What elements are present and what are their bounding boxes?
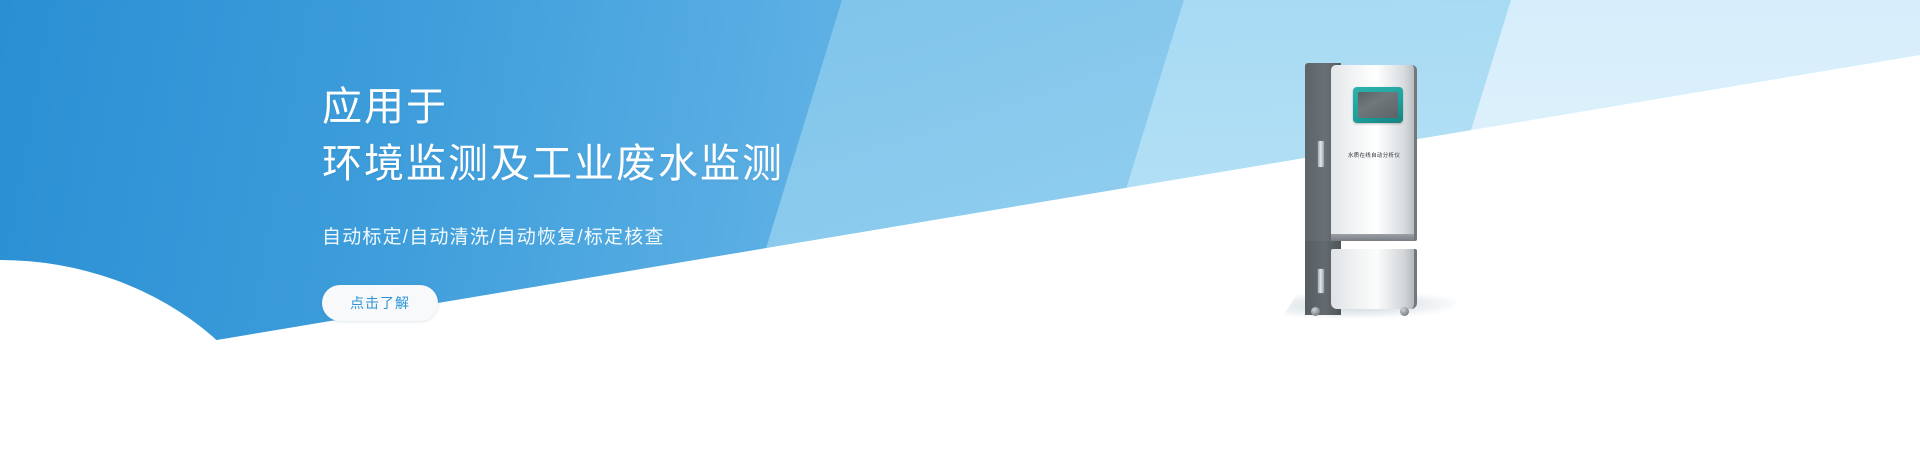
hero-subtitle: 自动标定/自动清洗/自动恢复/标定核查 xyxy=(322,222,942,249)
device-caster-right xyxy=(1400,307,1409,316)
hero-content: 应用于 环境监测及工业废水监测 自动标定/自动清洗/自动恢复/标定核查 点击了解 xyxy=(322,52,942,321)
device-lower-drawer xyxy=(1331,249,1417,309)
device-label-text: 水质在线自动分析仪 xyxy=(1330,151,1418,159)
device-caster-left xyxy=(1311,307,1320,316)
learn-more-button[interactable]: 点击了解 xyxy=(322,285,438,321)
device-handle-lower xyxy=(1317,268,1325,294)
headline-line-1: 应用于 xyxy=(322,79,942,136)
device-screen-bezel xyxy=(1353,87,1403,123)
device-handle-upper xyxy=(1317,140,1325,168)
device-display-screen xyxy=(1358,92,1398,118)
page-title: 应用于 环境监测及工业废水监测 xyxy=(322,79,942,193)
analyzer-device-image: 水质在线自动分析仪 xyxy=(1305,63,1417,315)
hero-banner: 应用于 环境监测及工业废水监测 自动标定/自动清洗/自动恢复/标定核查 点击了解… xyxy=(0,0,1920,450)
headline-line-2: 环境监测及工业废水监测 xyxy=(322,136,942,193)
background-bottom-strip xyxy=(0,438,1920,450)
